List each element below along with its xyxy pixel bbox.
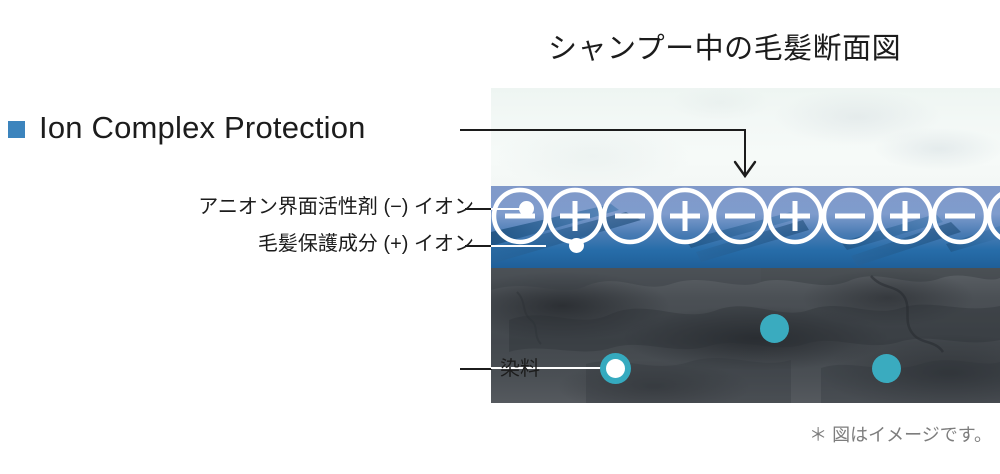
- cation-marker-dot: [569, 238, 584, 253]
- callout-label-cation: 毛髪保護成分 (+) イオン: [258, 234, 474, 254]
- callout-label-dye: 染料: [500, 359, 540, 379]
- dye-particle-core: [606, 359, 625, 378]
- anion-marker-dot: [519, 201, 534, 216]
- page-title: シャンプー中の毛髪断面図: [548, 25, 988, 67]
- legend-swatch-icon: [8, 121, 25, 138]
- legend-ion-complex-protection: Ion Complex Protection: [8, 112, 366, 143]
- dye-particle-upper: [760, 314, 789, 343]
- dye-particle-labeled: [600, 353, 631, 384]
- cortex-texture: [491, 268, 1000, 403]
- leader-line-dye: [460, 368, 492, 370]
- diagram-stage: シャンプー中の毛髪断面図: [0, 0, 1000, 474]
- leader-line-main: [460, 129, 746, 131]
- callout-label-anion: アニオン界面活性剤 (−) イオン: [198, 197, 474, 217]
- footnote-text: ＊ 図はイメージです。: [809, 421, 992, 447]
- leader-line-cation-inner: [491, 245, 546, 247]
- legend-main-label: Ion Complex Protection: [39, 112, 366, 143]
- hair-cortex-layer: [491, 268, 1000, 403]
- dye-particle-right: [872, 354, 901, 383]
- arrow-down-icon: [733, 160, 757, 180]
- ion-chain: [491, 176, 1000, 276]
- ion-circle-positive: [989, 190, 1000, 242]
